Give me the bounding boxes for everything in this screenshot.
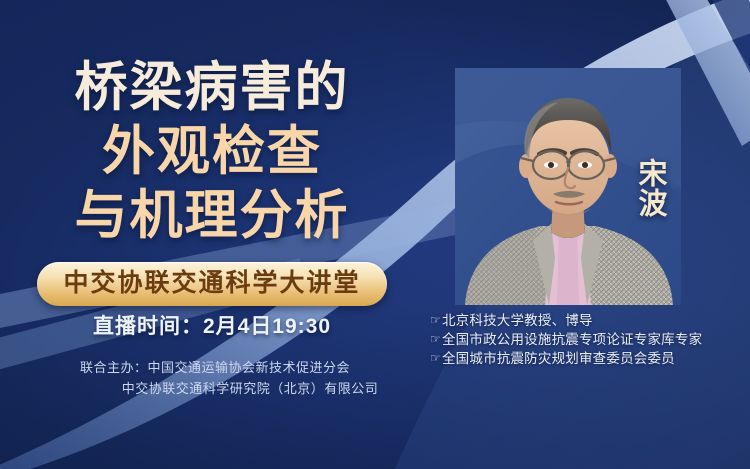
pointing-hand-icon: ☞ <box>430 349 441 368</box>
credential-item: ☞ 北京科技大学教授、博导 <box>430 311 746 330</box>
pointing-hand-icon: ☞ <box>430 311 441 330</box>
title-line-3: 与机理分析 <box>0 186 424 246</box>
speaker-name: 宋波 <box>630 158 670 218</box>
organizers-block: 联合主办：中国交通运输协会新技术促进分会 中交协联交通科学研究院（北京）有限公司 <box>0 357 430 399</box>
title-line-2: 外观检查 <box>0 122 424 182</box>
series-banner-label: 中交协联交通科学大讲堂 <box>37 262 386 306</box>
credential-text: 北京科技大学教授、博导 <box>442 311 593 330</box>
title-line-1: 桥梁病害的 <box>0 58 424 118</box>
series-banner: 中交协联交通科学大讲堂 <box>0 262 424 306</box>
credential-item: ☞ 全国城市抗震防灾规划审查委员会委员 <box>430 349 746 368</box>
pointing-hand-icon: ☞ <box>430 330 441 349</box>
webinar-poster: 桥梁病害的 外观检查 与机理分析 中交协联交通科学大讲堂 直播时间：2月4日19… <box>0 0 750 469</box>
speaker-credentials: ☞ 北京科技大学教授、博导 ☞ 全国市政公用设施抗震专项论证专家库专家 ☞ 全国… <box>430 311 746 368</box>
credential-item: ☞ 全国市政公用设施抗震专项论证专家库专家 <box>430 330 746 349</box>
broadcast-time: 直播时间：2月4日19:30 <box>0 310 424 340</box>
credential-text: 全国城市抗震防灾规划审查委员会委员 <box>442 349 675 368</box>
organizer-line-2: 中交协联交通科学研究院（北京）有限公司 <box>0 378 430 399</box>
organizer-line-1: 联合主办：中国交通运输协会新技术促进分会 <box>0 357 430 378</box>
credential-text: 全国市政公用设施抗震专项论证专家库专家 <box>442 330 702 349</box>
poster-title: 桥梁病害的 外观检查 与机理分析 <box>0 58 424 246</box>
